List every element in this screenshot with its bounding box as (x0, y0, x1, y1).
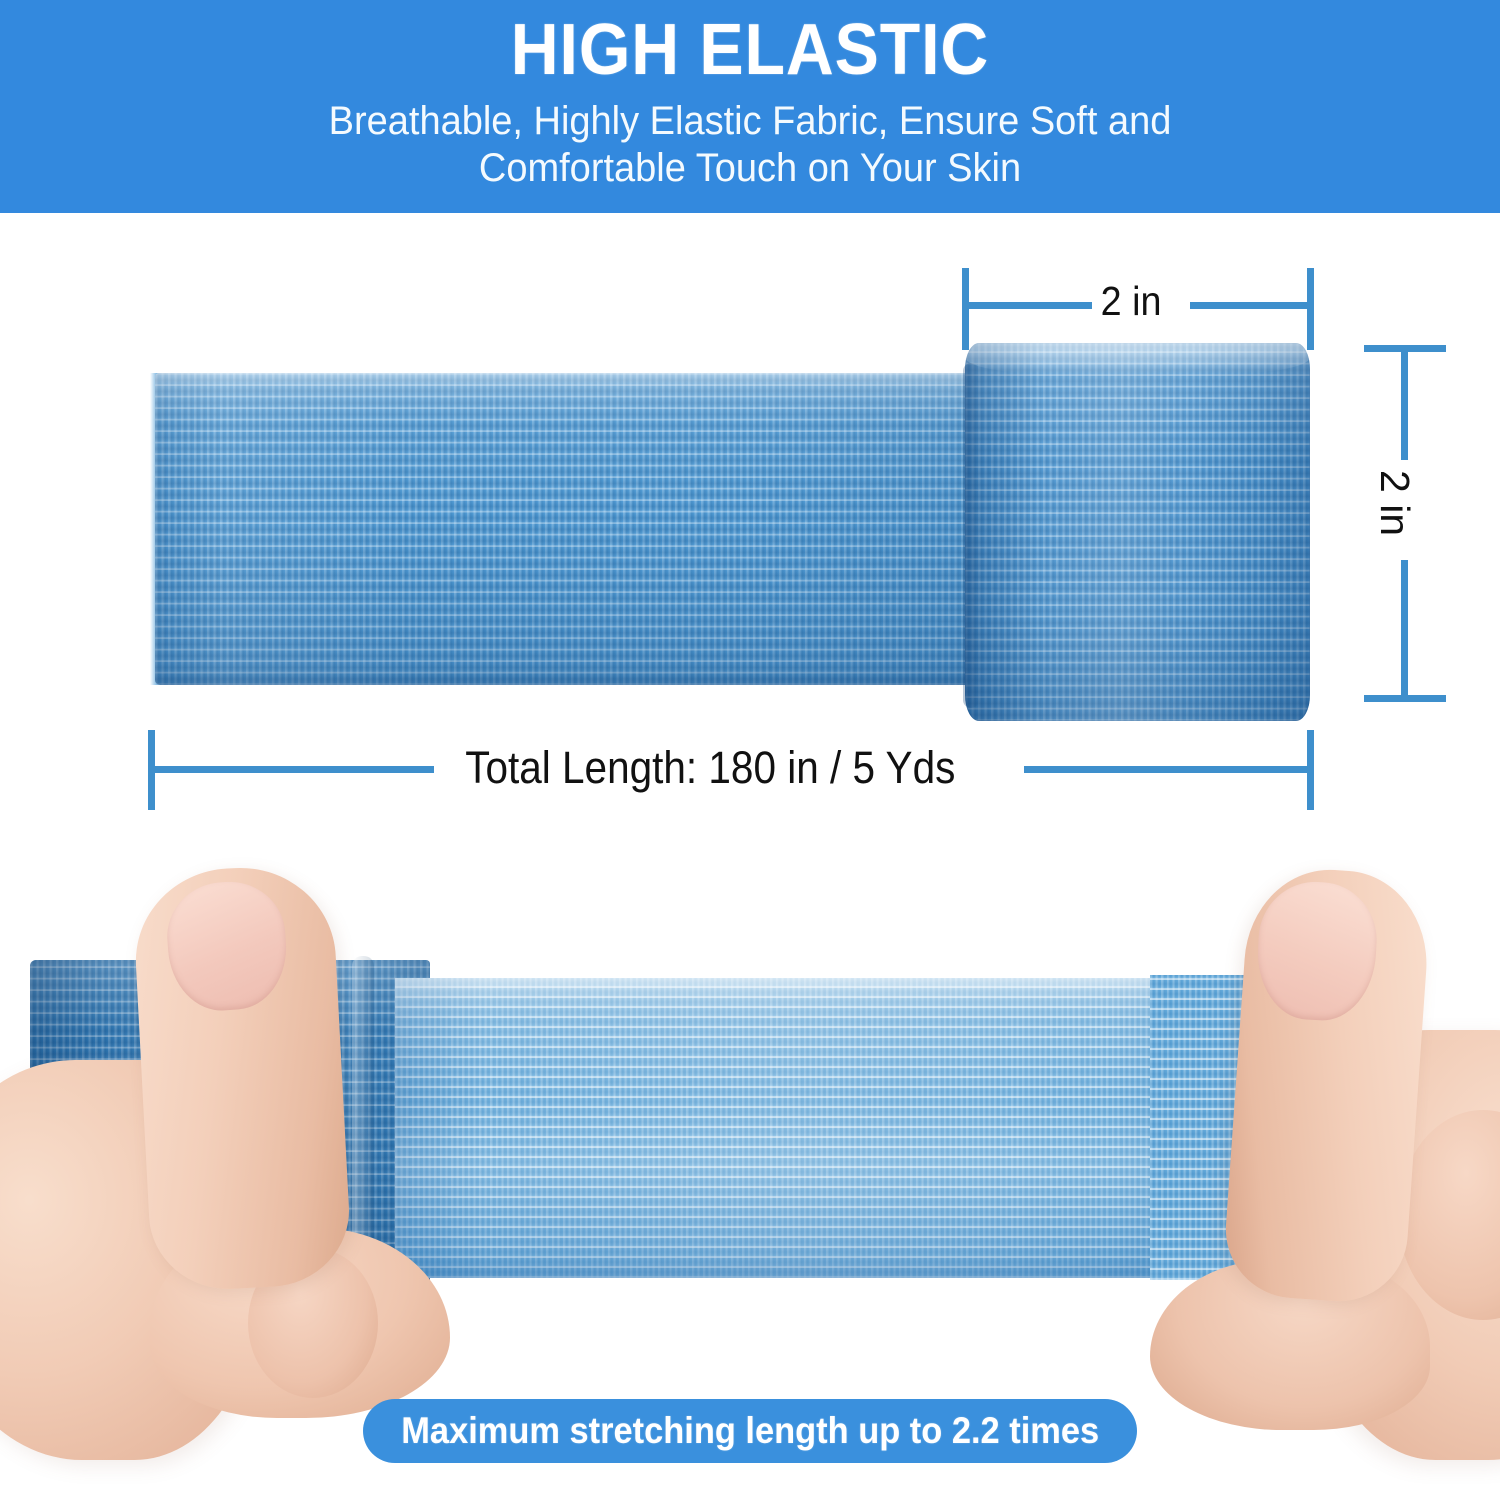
total-length-line-left (148, 766, 434, 773)
height-dim-line-bottom (1401, 560, 1408, 702)
bandage-roll (965, 343, 1310, 721)
header-subtitle: Breathable, Highly Elastic Fabric, Ensur… (38, 98, 1463, 192)
stretched-bandage-band (395, 978, 1265, 1278)
height-dim-label: 2 in (1371, 470, 1418, 536)
bandage-strip-shading (155, 373, 1000, 685)
height-dim-line-top (1401, 345, 1408, 460)
width-dim-right-cap (1307, 268, 1314, 350)
width-dim-left-cap (962, 268, 969, 350)
bandage-roll-shading (965, 343, 1310, 721)
header-banner: HIGH ELASTIC Breathable, Highly Elastic … (0, 0, 1500, 213)
width-dim-line-left (962, 302, 1092, 309)
stretch-caption-badge: Maximum stretching length up to 2.2 time… (363, 1399, 1137, 1463)
infographic-page: HIGH ELASTIC Breathable, Highly Elastic … (0, 0, 1500, 1500)
total-length-label: Total Length: 180 in / 5 Yds (465, 742, 955, 794)
page-title: HIGH ELASTIC (60, 14, 1440, 86)
width-dim-line-right (1190, 302, 1314, 309)
header-subtitle-line-2: Comfortable Touch on Your Skin (38, 145, 1463, 192)
bandage-flat-strip (155, 373, 1000, 685)
header-subtitle-line-1: Breathable, Highly Elastic Fabric, Ensur… (38, 98, 1463, 145)
stretched-band-shading (395, 978, 1265, 1278)
stretch-caption-text: Maximum stretching length up to 2.2 time… (401, 1410, 1099, 1452)
width-dim-label: 2 in (1101, 278, 1162, 325)
stretch-demo-photo (0, 860, 1500, 1420)
total-length-line-right (1024, 766, 1314, 773)
